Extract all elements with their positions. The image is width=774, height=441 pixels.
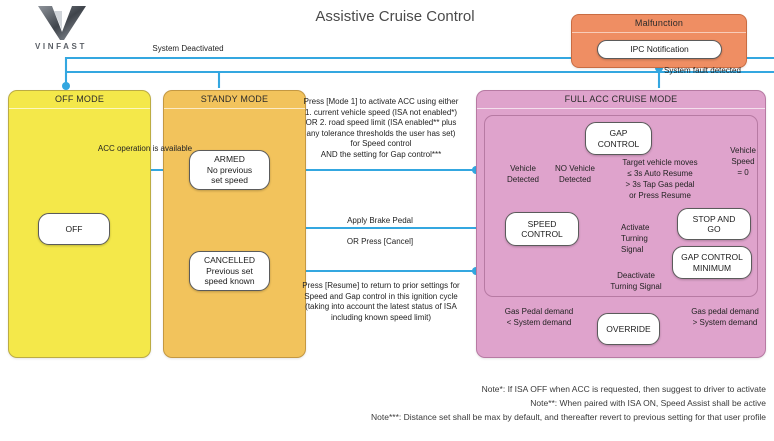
malfunction-panel-header: Malfunction	[572, 15, 746, 33]
footnote-1: Note*: If ISA OFF when ACC is requested,…	[8, 382, 766, 396]
node-ipc-notification-label: IPC Notification	[630, 44, 689, 55]
node-armed-line3: set speed	[211, 175, 248, 186]
node-gap-control-line2: CONTROL	[598, 139, 640, 150]
label-no-vehicle-detected: NO Vehicle Detected	[542, 163, 608, 185]
panel-off-mode-header: OFF MODE	[9, 91, 150, 109]
brand-name: VINFAST	[18, 42, 104, 51]
node-cancelled-line1: CANCELLED	[204, 255, 255, 266]
label-system-deactivated: System Deactivated	[118, 44, 258, 54]
node-stop-and-go[interactable]: STOP AND GO	[677, 208, 751, 240]
footnote-3: Note***: Distance set shall be max by de…	[8, 410, 766, 424]
label-activate-turning-signal: Activate Turning Signal	[621, 222, 669, 255]
footnotes: Note*: If ISA OFF when ACC is requested,…	[8, 382, 766, 424]
node-armed-line2: No previous	[207, 165, 252, 176]
label-apply-brake-pedal: Apply Brake Pedal	[310, 216, 450, 226]
acc-state-diagram: VINFAST Assistive Cruise Control Malfunc…	[0, 0, 774, 441]
footnote-2: Note**: When paired with ISA ON, Speed A…	[8, 396, 766, 410]
node-cancelled[interactable]: CANCELLED Previous set speed known	[189, 251, 270, 291]
node-armed[interactable]: ARMED No previous set speed	[189, 150, 270, 190]
panel-full-acc-cruise-mode-header: FULL ACC CRUISE MODE	[477, 91, 765, 109]
label-press-resume-instructions: Press [Resume] to return to prior settin…	[288, 281, 474, 323]
node-gap-control[interactable]: GAP CONTROL	[585, 122, 652, 155]
label-activate-acc-instructions: Press [Mode 1] to activate ACC using eit…	[290, 97, 472, 160]
node-armed-line1: ARMED	[214, 154, 245, 165]
node-off-label: OFF	[66, 224, 83, 235]
page-title: Assistive Cruise Control	[300, 8, 490, 25]
label-gas-pedal-demand-less: Gas Pedal demand < System demand	[490, 306, 588, 328]
panel-standby-mode-header: STANDY MODE	[164, 91, 305, 109]
node-cancelled-line2: Previous set	[206, 266, 253, 277]
label-target-vehicle-moves: Target vehicle moves ≤ 3s Auto Resume > …	[615, 157, 705, 201]
node-speed-control[interactable]: SPEED CONTROL	[505, 212, 579, 246]
brand-logo: VINFAST	[18, 4, 104, 62]
label-vehicle-speed-zero: Vehicle Speed = 0	[719, 145, 767, 178]
node-off[interactable]: OFF	[38, 213, 110, 245]
node-gap-control-minimum-line2: MINIMUM	[693, 263, 731, 274]
label-deactivate-turning-signal: Deactivate Turning Signal	[600, 270, 672, 292]
node-ipc-notification[interactable]: IPC Notification	[597, 40, 722, 59]
label-or-press-cancel: OR Press [Cancel]	[310, 237, 450, 247]
node-speed-control-line1: SPEED	[528, 219, 557, 230]
label-system-fault-detected: System fault detected	[664, 66, 774, 76]
node-speed-control-line2: CONTROL	[521, 229, 563, 240]
node-stop-and-go-line2: GO	[707, 224, 720, 235]
node-cancelled-line3: speed known	[204, 276, 254, 287]
node-stop-and-go-line1: STOP AND	[693, 214, 736, 225]
node-override[interactable]: OVERRIDE	[597, 313, 660, 345]
label-gas-pedal-demand-more: Gas pedal demand > System demand	[676, 306, 774, 328]
vinfast-v-chevron-icon	[36, 4, 88, 42]
panel-standby-mode: STANDY MODE	[163, 90, 306, 358]
node-override-label: OVERRIDE	[606, 324, 650, 335]
node-gap-control-minimum[interactable]: GAP CONTROL MINIMUM	[672, 246, 752, 279]
node-gap-control-minimum-line1: GAP CONTROL	[681, 252, 743, 263]
label-acc-operation-available: ACC operation is available	[75, 144, 215, 154]
node-gap-control-line1: GAP	[610, 128, 628, 139]
